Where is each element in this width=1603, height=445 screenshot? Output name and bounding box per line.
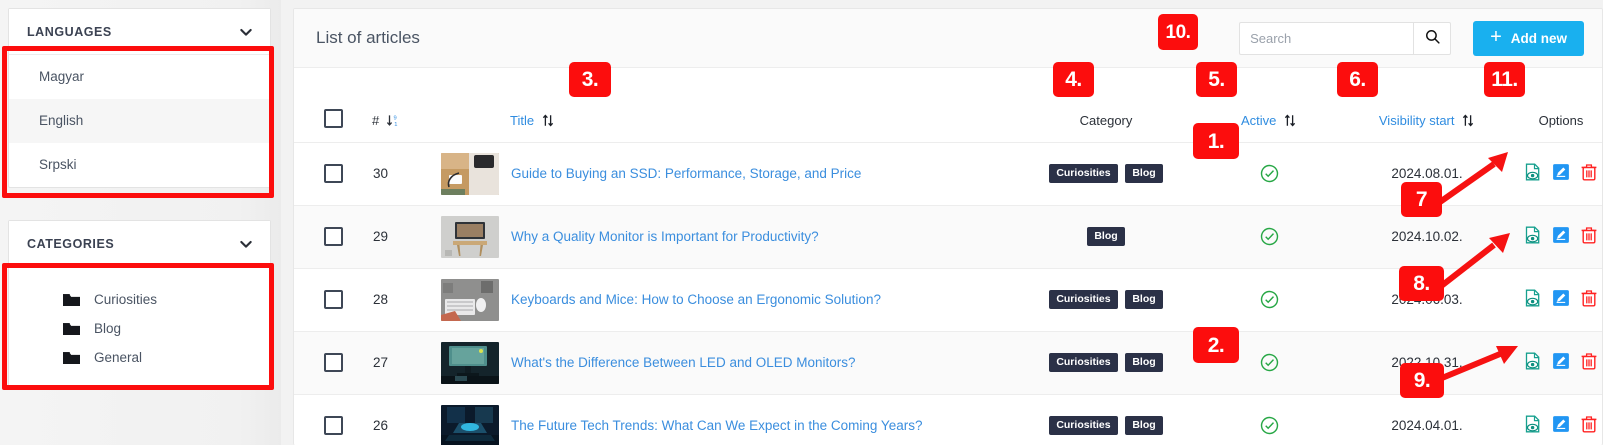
annotation-badge-7: 7 (1401, 182, 1442, 217)
row-options-cell (1520, 394, 1602, 445)
th-thumbnail (430, 68, 510, 142)
categories-panel-title: CATEGORIES (27, 237, 238, 251)
row-thumbnail-cell (430, 205, 510, 268)
th-active-label[interactable]: Active (1241, 113, 1276, 128)
document-eye-icon[interactable] (1524, 163, 1542, 181)
row-title-cell: The Future Tech Trends: What Can We Expe… (510, 394, 1008, 445)
languages-list: Magyar English Srpski (9, 55, 270, 187)
category-tag: Blog (1125, 164, 1162, 184)
row-id: 27 (372, 331, 430, 394)
language-item-english[interactable]: English (9, 99, 270, 143)
folder-icon (63, 351, 80, 365)
main-toolbar: List of articles + Add new (294, 9, 1602, 68)
row-select-cell (294, 331, 372, 394)
document-eye-icon[interactable] (1524, 415, 1542, 433)
check-circle-icon (1260, 227, 1279, 246)
language-label: Srpski (39, 157, 77, 172)
sort-up-down-icon[interactable] (1280, 113, 1297, 128)
article-thumbnail[interactable] (441, 153, 499, 195)
annotation-badge-11: 11. (1484, 62, 1525, 97)
th-category-label: Category (1080, 113, 1133, 128)
th-visibility-label[interactable]: Visibility start (1379, 113, 1455, 128)
add-new-label: Add new (1511, 31, 1567, 46)
row-categories-cell: Curiosities Blog (1008, 331, 1204, 394)
th-category: Category (1008, 68, 1204, 142)
annotation-badge-9: 9. (1400, 363, 1444, 398)
search-icon (1424, 28, 1441, 48)
row-id: 29 (372, 205, 430, 268)
row-categories-cell: Curiosities Blog (1008, 394, 1204, 445)
th-options-label: Options (1539, 113, 1584, 128)
row-options-cell (1520, 331, 1602, 394)
row-checkbox[interactable] (324, 353, 343, 372)
languages-panel-title: LANGUAGES (27, 25, 238, 39)
row-thumbnail-cell (430, 394, 510, 445)
row-id: 30 (372, 142, 430, 205)
th-options: Options (1520, 68, 1602, 142)
row-title-cell: Guide to Buying an SSD: Performance, Sto… (510, 142, 1008, 205)
pencil-square-icon[interactable] (1552, 415, 1570, 433)
category-label: General (94, 350, 142, 365)
category-label: Blog (94, 321, 121, 336)
document-eye-icon[interactable] (1524, 352, 1542, 370)
th-select-all (294, 68, 372, 142)
table-row: 26 The Future Tech Trends: What Can We E… (294, 394, 1602, 445)
row-title-cell: Why a Quality Monitor is Important for P… (510, 205, 1008, 268)
language-label: English (39, 113, 83, 128)
trash-icon[interactable] (1580, 163, 1598, 181)
category-tag: Blog (1125, 416, 1162, 436)
category-item-curiosities[interactable]: Curiosities (9, 285, 270, 314)
trash-icon[interactable] (1580, 352, 1598, 370)
add-new-button[interactable]: + Add new (1473, 21, 1584, 56)
folder-icon (63, 293, 80, 307)
pencil-square-icon[interactable] (1552, 352, 1570, 370)
row-checkbox[interactable] (324, 227, 343, 246)
row-id: 28 (372, 268, 430, 331)
row-title-cell: What's the Difference Between LED and OL… (510, 331, 1008, 394)
category-tag: Curiosities (1049, 416, 1117, 436)
article-thumbnail[interactable] (441, 342, 499, 384)
th-number[interactable]: # 9 1 (372, 68, 430, 142)
category-tag: Blog (1125, 290, 1162, 310)
row-options-cell (1520, 268, 1602, 331)
check-circle-icon (1260, 290, 1279, 309)
category-tag: Curiosities (1049, 353, 1117, 373)
chevron-down-icon[interactable] (238, 236, 254, 252)
article-thumbnail[interactable] (441, 279, 499, 321)
page-title: List of articles (316, 28, 1239, 48)
search-button[interactable] (1413, 22, 1451, 55)
language-item-srpski[interactable]: Srpski (9, 143, 270, 187)
annotation-badge-3: 3. (569, 62, 611, 97)
annotation-arrow-9 (1438, 340, 1526, 386)
row-thumbnail-cell (430, 142, 510, 205)
trash-icon[interactable] (1580, 289, 1598, 307)
category-item-blog[interactable]: Blog (9, 314, 270, 343)
row-visibility-start: 2024.04.01. (1334, 394, 1520, 445)
table-header-row: # 9 1 Title (294, 68, 1602, 142)
document-eye-icon[interactable] (1524, 226, 1542, 244)
sort-numeric-down-icon[interactable]: 9 1 (383, 113, 400, 128)
annotation-badge-8: 8. (1399, 266, 1444, 301)
language-label: Magyar (39, 69, 84, 84)
annotation-badge-6: 6. (1337, 62, 1378, 97)
row-categories-cell: Curiosities Blog (1008, 142, 1204, 205)
check-circle-icon (1260, 353, 1279, 372)
row-title-cell: Keyboards and Mice: How to Choose an Erg… (510, 268, 1008, 331)
row-select-cell (294, 142, 372, 205)
article-title-link[interactable]: The Future Tech Trends: What Can We Expe… (511, 418, 922, 433)
chevron-down-icon[interactable] (238, 24, 254, 40)
category-item-general[interactable]: General (9, 343, 270, 372)
row-select-cell (294, 394, 372, 445)
article-thumbnail[interactable] (441, 216, 499, 258)
select-all-checkbox[interactable] (324, 109, 343, 128)
trash-icon[interactable] (1580, 226, 1598, 244)
annotation-badge-10: 10. (1158, 14, 1198, 50)
row-options-cell (1520, 205, 1602, 268)
row-options-cell (1520, 142, 1602, 205)
row-checkbox[interactable] (324, 416, 343, 435)
row-checkbox[interactable] (324, 164, 343, 183)
annotation-badge-1: 1. (1193, 123, 1239, 159)
row-categories-cell: Blog (1008, 205, 1204, 268)
category-tag: Blog (1125, 353, 1162, 373)
document-eye-icon[interactable] (1524, 289, 1542, 307)
category-tag: Blog (1087, 227, 1124, 247)
categories-panel: CATEGORIES Curiosities Blog (8, 220, 271, 387)
article-title-link[interactable]: What's the Difference Between LED and OL… (511, 355, 856, 370)
category-tag: Curiosities (1049, 290, 1117, 310)
sort-up-down-icon[interactable] (1458, 113, 1475, 128)
row-checkbox[interactable] (324, 290, 343, 309)
row-id: 26 (372, 394, 430, 445)
folder-icon (63, 322, 80, 336)
search-input[interactable] (1239, 22, 1413, 55)
check-circle-icon (1260, 164, 1279, 183)
articles-table-head: # 9 1 Title (294, 68, 1602, 142)
article-title-link[interactable]: Guide to Buying an SSD: Performance, Sto… (511, 166, 861, 181)
annotation-arrow-8 (1436, 231, 1516, 293)
svg-text:9: 9 (393, 115, 396, 121)
category-tag: Curiosities (1049, 164, 1117, 184)
article-title-link[interactable]: Why a Quality Monitor is Important for P… (511, 229, 819, 244)
article-thumbnail[interactable] (441, 405, 499, 445)
sort-up-down-icon[interactable] (538, 113, 555, 128)
category-label: Curiosities (94, 292, 157, 307)
row-categories-cell: Curiosities Blog (1008, 268, 1204, 331)
row-thumbnail-cell (430, 268, 510, 331)
sidebar: LANGUAGES Magyar English Srpski CATEGORI (0, 0, 281, 445)
annotation-arrow-7 (1434, 152, 1514, 208)
languages-panel: LANGUAGES Magyar English Srpski (8, 8, 271, 188)
annotation-badge-5: 5. (1196, 62, 1237, 97)
search-group (1239, 22, 1451, 55)
row-thumbnail-cell (430, 331, 510, 394)
article-title-link[interactable]: Keyboards and Mice: How to Choose an Erg… (511, 292, 881, 307)
row-select-cell (294, 268, 372, 331)
check-circle-icon (1260, 416, 1279, 435)
row-select-cell (294, 205, 372, 268)
annotation-badge-2: 2. (1193, 327, 1239, 363)
row-active-cell (1204, 205, 1334, 268)
trash-icon[interactable] (1580, 415, 1598, 433)
pencil-square-icon[interactable] (1552, 226, 1570, 244)
categories-list: Curiosities Blog General (9, 267, 270, 386)
th-number-label: # (372, 113, 379, 128)
plus-icon: + (1490, 27, 1502, 47)
categories-panel-header[interactable]: CATEGORIES (9, 221, 270, 267)
svg-text:1: 1 (394, 122, 397, 128)
row-active-cell (1204, 394, 1334, 445)
annotation-badge-4: 4. (1053, 62, 1094, 97)
language-item-magyar[interactable]: Magyar (9, 55, 270, 99)
pencil-square-icon[interactable] (1552, 289, 1570, 307)
th-title-label[interactable]: Title (510, 113, 534, 128)
row-active-cell (1204, 268, 1334, 331)
pencil-square-icon[interactable] (1552, 163, 1570, 181)
languages-panel-header[interactable]: LANGUAGES (9, 9, 270, 55)
